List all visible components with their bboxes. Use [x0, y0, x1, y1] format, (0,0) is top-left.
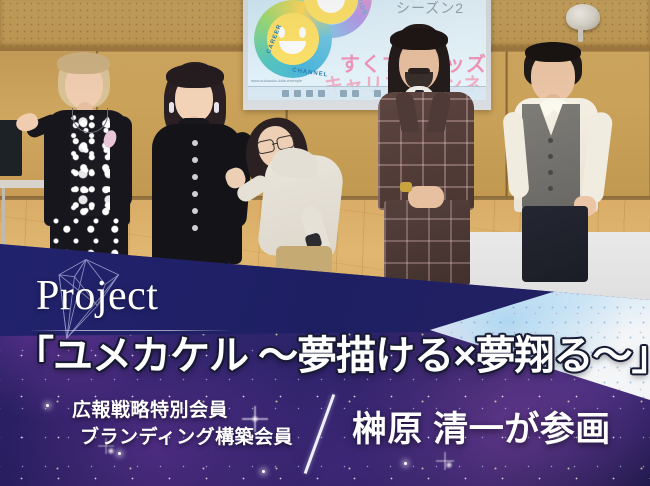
person-plaid-suit-man: [372, 24, 484, 268]
side-table-leg: [2, 188, 5, 250]
ceiling-speaker-icon: [566, 4, 600, 30]
member-roles: 広報戦略特別会員 ブランディング構築会員: [72, 398, 293, 452]
banner-image: CAREER CHANNEL KIDS すくすくキッズ キャリアチャンネル シー…: [0, 0, 650, 486]
person-glasses-hoodie: [240, 118, 350, 278]
person-dark-hair-woman: [142, 62, 254, 262]
person-blonde-woman: [28, 52, 148, 262]
sparkle-icon: [436, 452, 454, 470]
title-divider: [32, 330, 228, 331]
member-role-line-1: 広報戦略特別会員: [72, 398, 293, 425]
speaker-mount: [578, 26, 583, 42]
project-eyebrow-label: Project: [36, 275, 158, 317]
page-title: 「ユメカケル ～夢描ける×夢翔る～」: [14, 336, 650, 376]
member-role-line-2: ブランディング構築会員: [72, 425, 293, 452]
participant-name: 榊原 清一が参画: [352, 412, 611, 447]
screen-season-label: シーズン2: [396, 0, 464, 18]
screen-url-text: www.sukusuku-kids.example: [251, 78, 302, 83]
person-gray-vest-man: [500, 42, 622, 272]
